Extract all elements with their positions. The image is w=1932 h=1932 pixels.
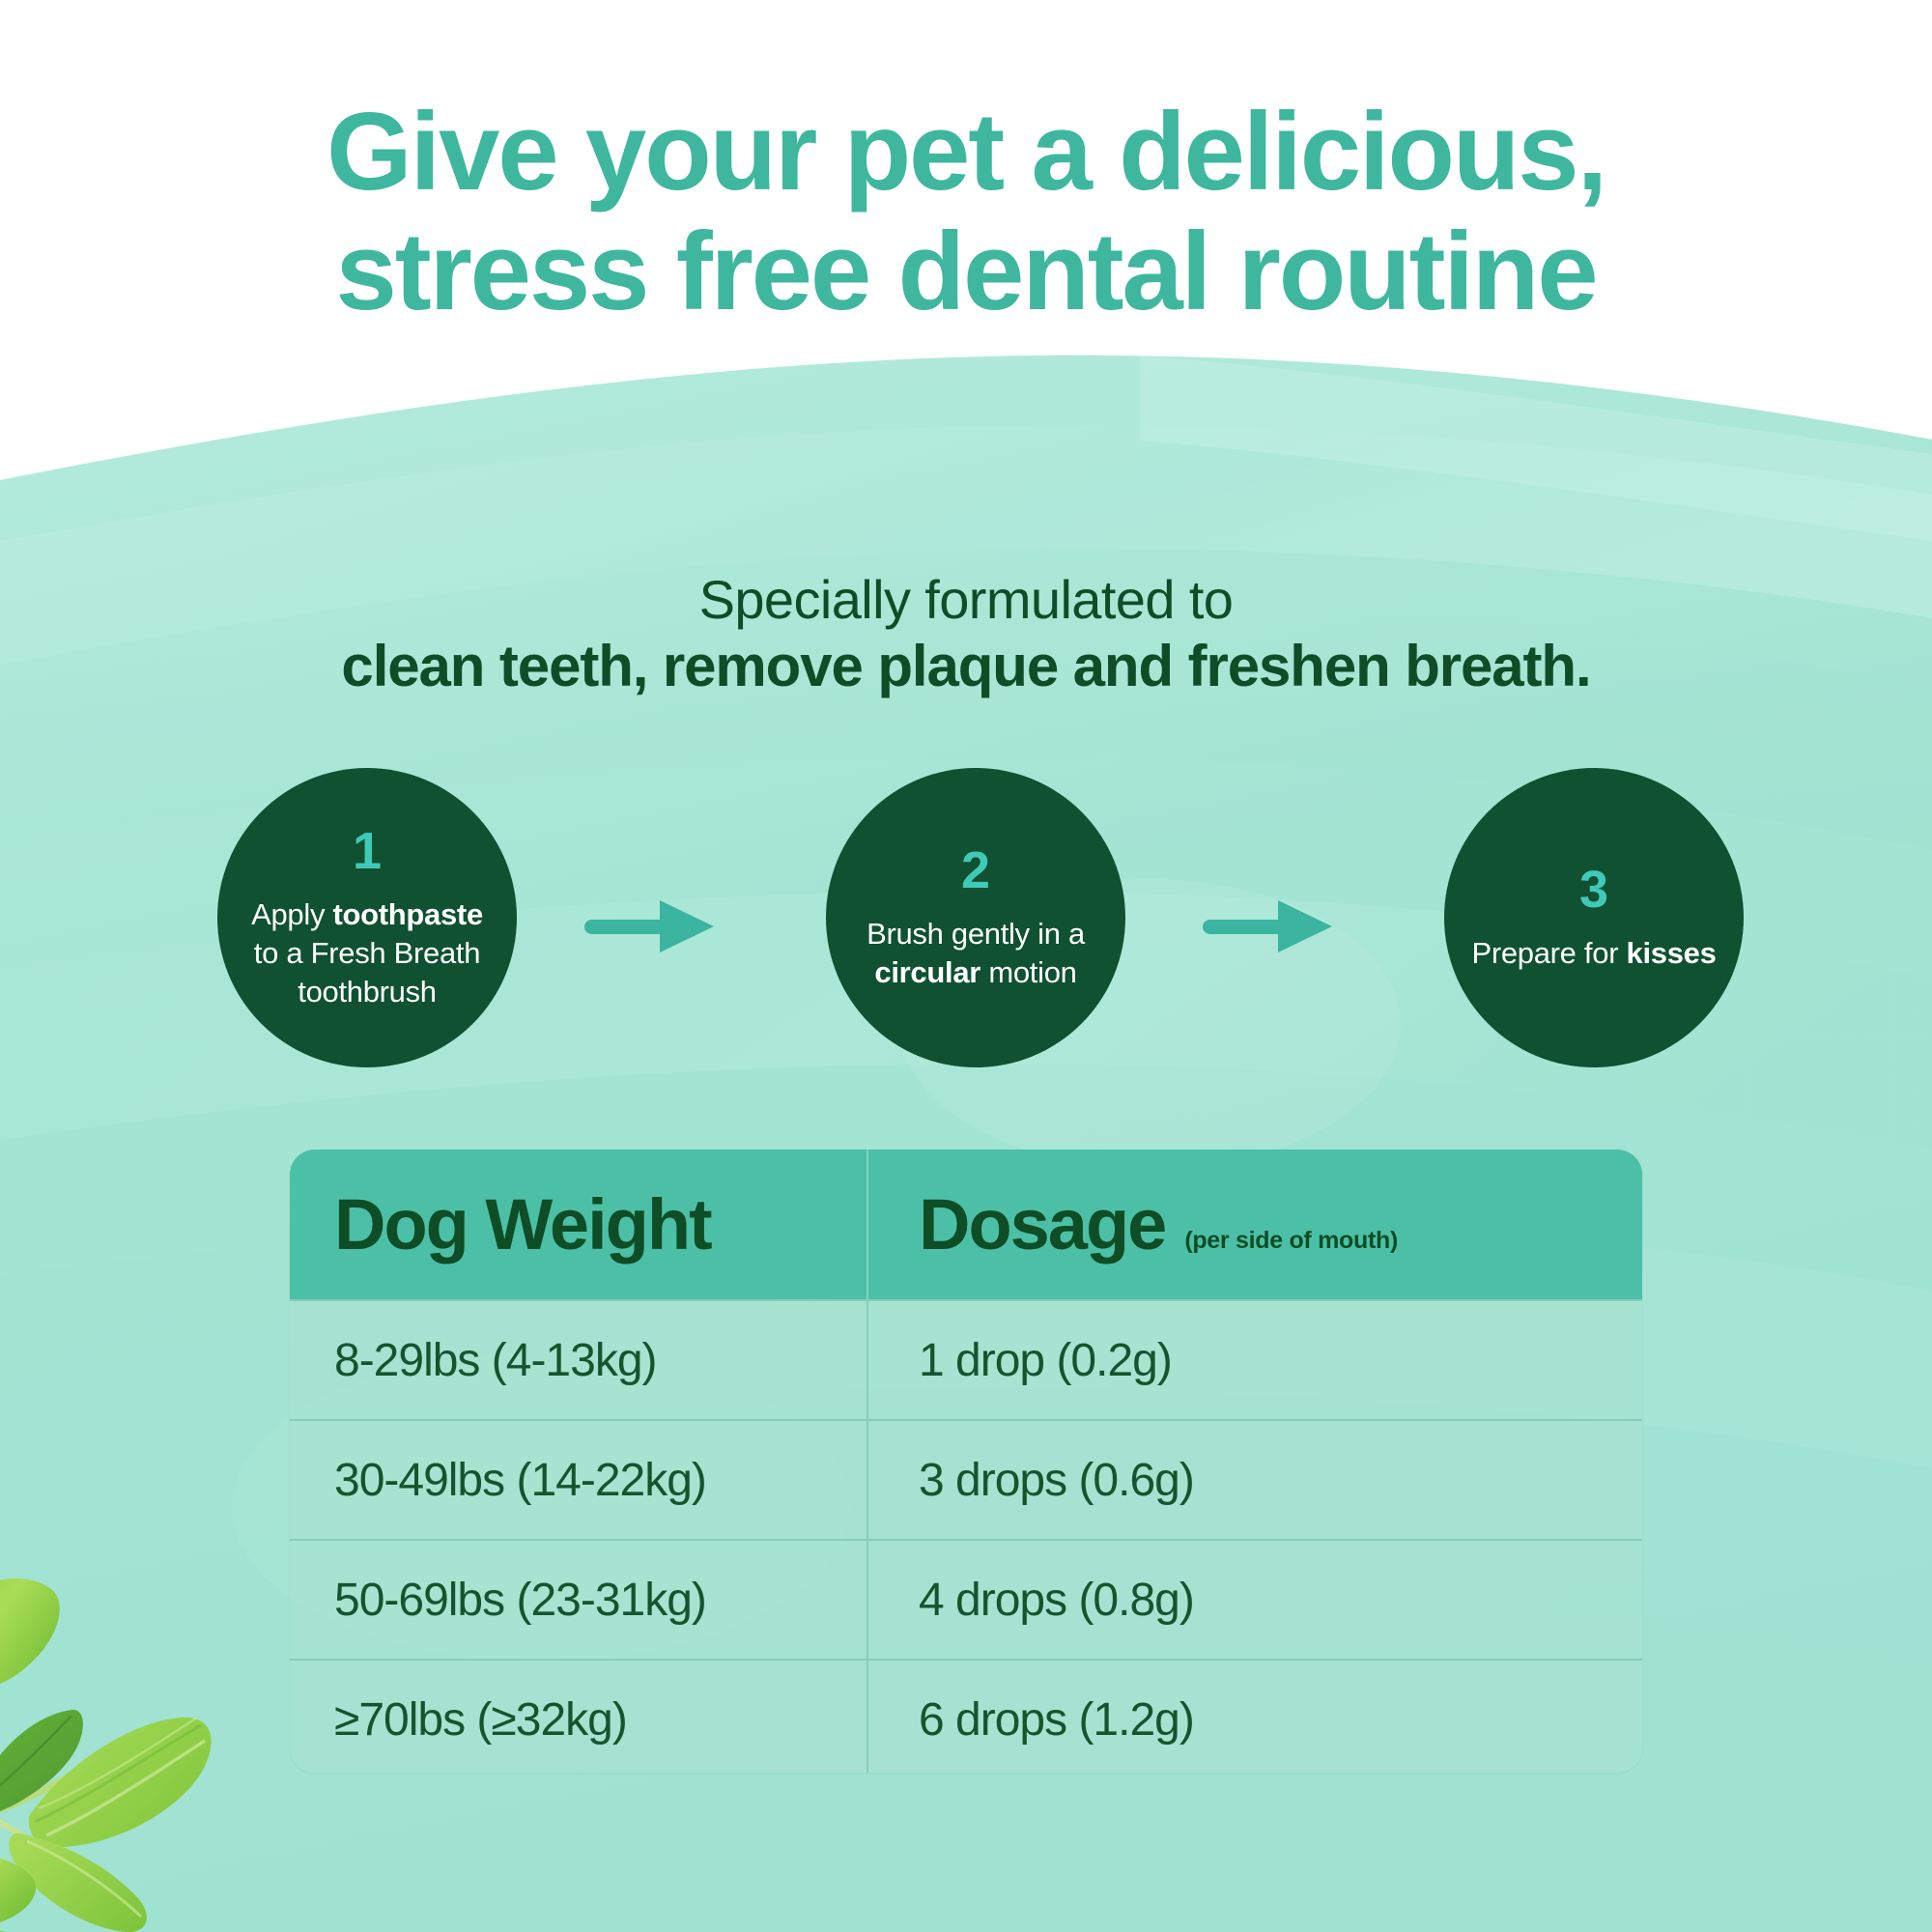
cell-dog-weight: ≥70lbs (≥32kg) <box>290 1661 867 1773</box>
step-circle-3: 3 Prepare for kisses <box>1444 768 1744 1067</box>
cell-dosage: 6 drops (1.2g) <box>867 1661 1642 1773</box>
steps-row: 1 Apply toothpaste to a Fresh Breath too… <box>0 768 1932 1067</box>
column-header-dog-weight: Dog Weight <box>290 1150 867 1299</box>
step-text-1: Apply toothpaste to a Fresh Breath tooth… <box>239 895 496 1011</box>
dental-routine-infographic: Give your pet a delicious, stress free d… <box>0 0 1932 1932</box>
table-row: ≥70lbs (≥32kg) 6 drops (1.2g) <box>290 1659 1642 1773</box>
step-number-3: 3 <box>1579 863 1608 917</box>
headline-line-1: Give your pet a delicious, <box>0 93 1932 213</box>
step-text-2: Brush gently in a circular motion <box>847 915 1104 992</box>
mint-leaves-icon <box>0 1526 299 1932</box>
subheading-line-2: clean teeth, remove plaque and freshen b… <box>0 632 1932 701</box>
cell-dosage: 1 drop (0.2g) <box>867 1301 1642 1419</box>
table-row: 30-49lbs (14-22kg) 3 drops (0.6g) <box>290 1419 1642 1539</box>
column-header-dosage-note: (per side of mouth) <box>1184 1226 1398 1255</box>
column-header-dosage-label: Dosage <box>919 1186 1165 1264</box>
headline-line-2: stress free dental routine <box>0 213 1932 332</box>
cell-dosage: 4 drops (0.8g) <box>867 1541 1642 1659</box>
column-header-dog-weight-label: Dog Weight <box>334 1186 711 1264</box>
step-circle-2: 2 Brush gently in a circular motion <box>826 768 1125 1067</box>
dosage-table: Dog Weight Dosage (per side of mouth) 8-… <box>290 1150 1642 1773</box>
table-header-row: Dog Weight Dosage (per side of mouth) <box>290 1150 1642 1299</box>
step-circle-1: 1 Apply toothpaste to a Fresh Breath too… <box>217 768 517 1067</box>
column-header-dosage: Dosage (per side of mouth) <box>867 1150 1642 1299</box>
table-row: 8-29lbs (4-13kg) 1 drop (0.2g) <box>290 1299 1642 1419</box>
arrow-right-icon <box>1203 896 1338 956</box>
step-number-1: 1 <box>353 824 382 878</box>
subheading-line-1: Specially formulated to <box>0 568 1932 632</box>
page-title: Give your pet a delicious, stress free d… <box>0 93 1932 332</box>
cell-dog-weight: 8-29lbs (4-13kg) <box>290 1301 867 1419</box>
step-number-2: 2 <box>961 843 990 897</box>
subheading: Specially formulated to clean teeth, rem… <box>0 568 1932 701</box>
table-row: 50-69lbs (23-31kg) 4 drops (0.8g) <box>290 1539 1642 1659</box>
arrow-right-icon <box>584 896 720 956</box>
step-text-3: Prepare for kisses <box>1471 934 1716 973</box>
cell-dog-weight: 50-69lbs (23-31kg) <box>290 1541 867 1659</box>
cell-dosage: 3 drops (0.6g) <box>867 1421 1642 1539</box>
cell-dog-weight: 30-49lbs (14-22kg) <box>290 1421 867 1539</box>
